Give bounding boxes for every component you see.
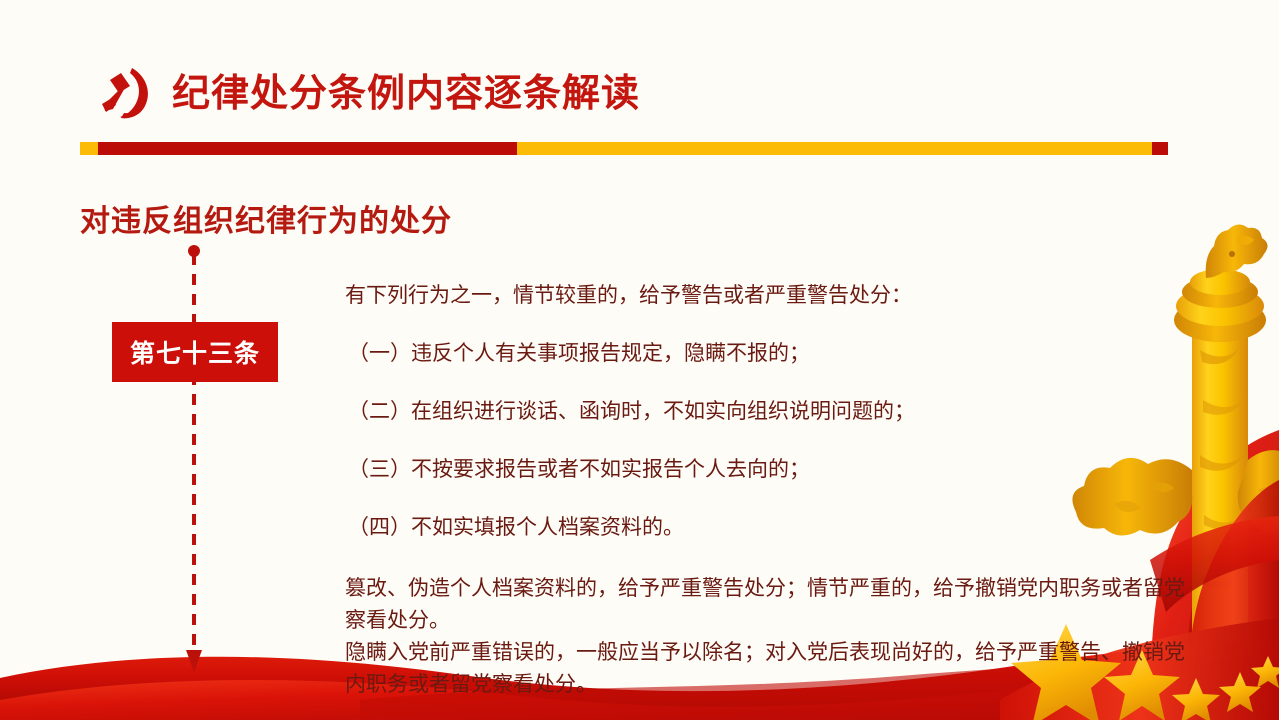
article-tail-paragraph-2: 隐瞒入党前严重错误的，一般应当予以除名；对入党后表现尚好的，给予严重警告、撤销党…: [345, 636, 1185, 700]
divider-red-end: [1152, 142, 1168, 155]
article-tail: 篡改、伪造个人档案资料的，给予严重警告处分；情节严重的，给予撤销党内职务或者留党…: [345, 572, 1185, 700]
divider-gold: [517, 142, 1152, 155]
article-clause-1: （一）违反个人有关事项报告规定，隐瞒不报的；: [348, 336, 1175, 370]
section-subtitle: 对违反组织纪律行为的处分: [80, 196, 452, 240]
article-clause-3: （三）不按要求报告或者不如实报告个人去向的；: [348, 452, 1175, 486]
article-tail-paragraph-1: 篡改、伪造个人档案资料的，给予严重警告处分；情节严重的，给予撤销党内职务或者留党…: [345, 572, 1185, 636]
article-clause-2: （二）在组织进行谈话、函询时，不如实向组织说明问题的；: [348, 394, 1175, 428]
dashed-arrow-connector-icon: [176, 244, 212, 674]
article-clause-4: （四）不如实填报个人档案资料的。: [348, 510, 1175, 544]
slide-canvas: 纪律处分条例内容逐条解读 对违反组织纪律行为的处分 第七十三条 有下列行为之一，…: [0, 0, 1279, 720]
article-badge-label: 第七十三条: [130, 334, 260, 370]
header-divider: [80, 142, 1168, 155]
hammer-sickle-emblem-icon: [96, 64, 156, 122]
article-badge[interactable]: 第七十三条: [112, 322, 278, 382]
article-lead-line: 有下列行为之一，情节较重的，给予警告或者严重警告处分：: [345, 278, 1175, 312]
slide-header: 纪律处分条例内容逐条解读: [96, 62, 640, 124]
divider-red: [98, 142, 517, 155]
article-body: 有下列行为之一，情节较重的，给予警告或者严重警告处分： （一）违反个人有关事项报…: [345, 278, 1175, 568]
divider-gold-start: [80, 142, 98, 155]
page-title: 纪律处分条例内容逐条解读: [172, 74, 640, 112]
